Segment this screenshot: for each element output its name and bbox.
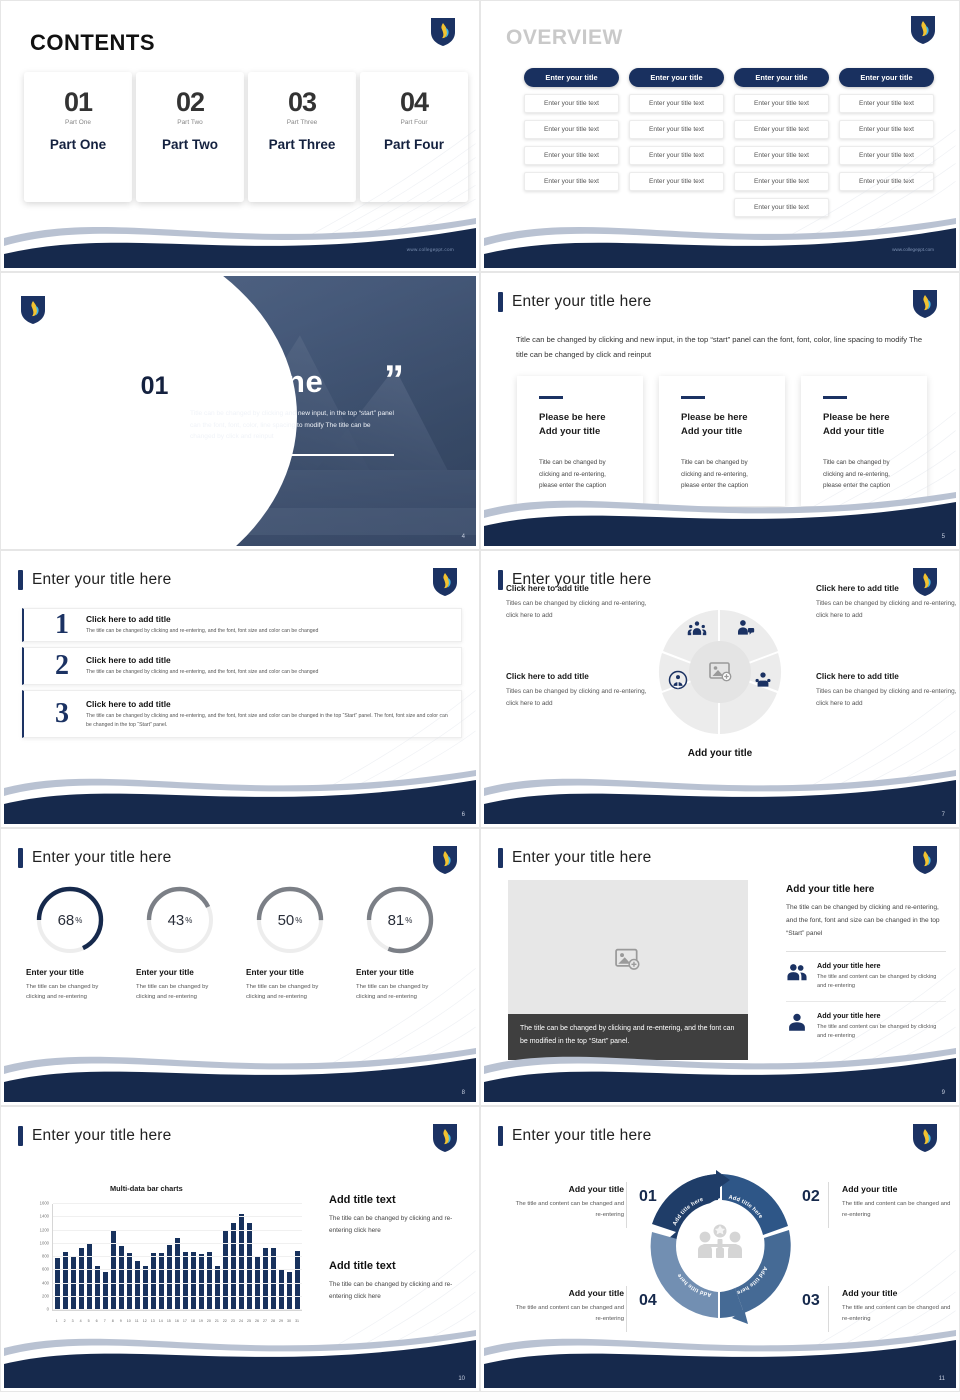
slide-three-cards[interactable]: Enter your title here Title can be chang…	[480, 272, 960, 550]
list-item[interactable]: Add your title here The title and conten…	[786, 952, 946, 1002]
chart-bar	[215, 1266, 220, 1310]
chart-bars	[53, 1204, 302, 1310]
divider-rule	[190, 454, 394, 456]
chart-x-axis-labels: 1234567891011121314151617181920212223242…	[52, 1319, 302, 1323]
contents-cards: 01 Part One Part One 02 Part Two Part Tw…	[24, 72, 468, 202]
section-description: Title can be changed by clicking and new…	[190, 408, 395, 443]
two-people-icon	[786, 961, 808, 983]
node-text-02: Add your title The title and content can…	[842, 1184, 954, 1220]
chart-x-tick-label: 20	[206, 1319, 211, 1323]
person-team-icon	[753, 670, 773, 690]
shield-logo-icon	[430, 16, 456, 47]
chart-x-tick-label: 7	[102, 1319, 107, 1323]
card-heading-line2: Add your title	[539, 426, 600, 437]
column-title-pill[interactable]: Enter your title	[839, 68, 934, 87]
overview-item[interactable]: Enter your title text	[524, 94, 619, 113]
page-number: 11	[939, 1376, 945, 1382]
diagram-text-bottom-left: Click here to add title Titles can be ch…	[506, 672, 658, 710]
slide-bar-chart[interactable]: Enter your title here Multi-data bar cha…	[0, 1106, 480, 1392]
chart-x-tick-label: 17	[182, 1319, 187, 1323]
node-text-04: Add your title The title and content can…	[512, 1288, 624, 1324]
chart-gridline: 1400	[53, 1216, 302, 1217]
page-number: 5	[942, 534, 945, 540]
shield-logo-icon	[432, 1122, 458, 1153]
info-card[interactable]: Please be here Add your title Title can …	[659, 376, 785, 506]
node-heading: Add your title	[512, 1288, 624, 1298]
card-subtitle: Part Four	[400, 119, 427, 126]
item-heading: Add your title here	[817, 1011, 946, 1020]
chart-bar	[295, 1251, 300, 1310]
node-text-03: Add your title The title and content can…	[842, 1288, 954, 1324]
chart-x-tick-label: 11	[134, 1319, 139, 1323]
card-body: Title can be changed by clicking and re-…	[681, 457, 763, 492]
card-title: Part One	[50, 137, 106, 152]
donut-value: 68%	[34, 884, 106, 956]
page-title: Enter your title here	[18, 1126, 171, 1146]
chart-bar	[167, 1245, 172, 1310]
stat-body: The title can be changed by clicking and…	[26, 982, 114, 1003]
overview-item[interactable]: Enter your title text	[629, 120, 724, 139]
chart-y-tick-label: 600	[42, 1267, 49, 1272]
card-body: Title can be changed by clicking and re-…	[823, 457, 905, 492]
chart-x-tick-label: 24	[238, 1319, 243, 1323]
title-text: Enter your title here	[512, 849, 651, 867]
shield-logo-icon	[910, 14, 936, 45]
item-number: 3	[38, 700, 86, 728]
item-body: The title and content can be changed by …	[817, 973, 946, 992]
chart-x-tick-label: 31	[294, 1319, 299, 1323]
donut-chart: 81%	[364, 884, 436, 956]
separator	[828, 1286, 829, 1332]
item-number: 2	[38, 652, 86, 680]
chart-x-tick-label: 2	[62, 1319, 67, 1323]
wave-footer	[4, 754, 476, 824]
overview-column: Enter your title Enter your title text E…	[524, 68, 619, 217]
card-subtitle: Part Three	[287, 119, 318, 126]
overview-column: Enter your title Enter your title text E…	[734, 68, 829, 217]
chart-x-tick-label: 12	[142, 1319, 147, 1323]
slide-overview[interactable]: OVERVIEW Enter your title Enter your tit…	[480, 0, 960, 272]
card-subtitle: Part One	[65, 119, 91, 126]
separator	[626, 1286, 627, 1332]
chart-gridline: 1600	[53, 1203, 302, 1204]
overview-column: Enter your title Enter your title text E…	[629, 68, 724, 217]
contents-card[interactable]: 03 Part Three Part Three	[248, 72, 356, 202]
node-number-02: 02	[802, 1188, 820, 1206]
page-title: CONTENTS	[30, 30, 155, 56]
stat-body: The title can be changed by clicking and…	[246, 982, 334, 1003]
chart-y-tick-label: 400	[42, 1280, 49, 1285]
donut-stat-group: 68% Enter your title The title can be ch…	[26, 884, 444, 1003]
chart-x-tick-label: 22	[222, 1319, 227, 1323]
diagram-text-bottom-right: Click here to add title Titles can be ch…	[816, 672, 956, 710]
item-body: The title can be changed by clicking and…	[86, 668, 451, 676]
title-accent-bar	[498, 292, 503, 312]
footer-url: www.collegeppt.com	[892, 247, 934, 252]
chart-x-tick-label: 5	[86, 1319, 91, 1323]
image-placeholder[interactable]: The title can be changed by clicking and…	[508, 880, 748, 1060]
block-body: Titles can be changed by clicking and re…	[506, 598, 658, 622]
quote-mark-icon: ”	[384, 360, 404, 400]
chart-x-tick-label: 16	[174, 1319, 179, 1323]
slide-deck: CONTENTS 01 Part One Part One 02 Part Tw…	[0, 0, 960, 1400]
page-title: Enter your title here	[498, 292, 651, 312]
person-speech-icon	[735, 618, 755, 638]
people-circle-icon	[668, 670, 688, 690]
title-accent-bar	[498, 1126, 503, 1146]
diagram-text-top-left: Click here to add title Titles can be ch…	[506, 584, 658, 622]
overview-item[interactable]: Enter your title text	[734, 146, 829, 165]
chart-side-text: Add title text The title can be changed …	[329, 1194, 471, 1304]
chart-gridline: 600	[53, 1269, 302, 1270]
chart-bar	[175, 1238, 180, 1310]
chart-y-tick-label: 0	[47, 1307, 49, 1312]
donut-stat[interactable]: 50% Enter your title The title can be ch…	[246, 884, 334, 1003]
overview-item[interactable]: Enter your title text	[839, 120, 934, 139]
chart-bar	[143, 1266, 148, 1310]
card-heading-line2: Add your title	[681, 426, 742, 437]
node-heading: Add your title	[512, 1184, 624, 1194]
chart-x-tick-label: 3	[70, 1319, 75, 1323]
chart-x-tick-label: 29	[278, 1319, 283, 1323]
block-heading: Click here to add title	[506, 584, 658, 593]
contents-card[interactable]: 04 Part Four Part Four	[360, 72, 468, 202]
chart-y-tick-label: 1600	[40, 1201, 49, 1206]
title-text: Enter your title here	[32, 571, 171, 589]
page-title: Enter your title here	[498, 1126, 651, 1146]
overview-item[interactable]: Enter your title text	[629, 172, 724, 191]
chart-bar	[279, 1269, 284, 1310]
slide-numbered-list[interactable]: Enter your title here 1 Click here to ad…	[0, 550, 480, 828]
overview-item[interactable]: Enter your title text	[734, 120, 829, 139]
item-number: 1	[38, 611, 86, 639]
chart-y-tick-label: 1400	[40, 1214, 49, 1219]
overview-item[interactable]: Enter your title text	[629, 94, 724, 113]
chart-bar	[71, 1257, 76, 1310]
column-title-pill[interactable]: Enter your title	[524, 68, 619, 87]
group-people-icon	[687, 619, 707, 639]
image-caption: The title can be changed by clicking and…	[508, 1014, 748, 1060]
page-title: Enter your title here	[498, 848, 651, 868]
chart-x-tick-label: 23	[230, 1319, 235, 1323]
stat-heading: Enter your title	[356, 968, 444, 977]
block-body: The title can be changed by clicking and…	[329, 1279, 471, 1304]
overview-item[interactable]: Enter your title text	[524, 146, 619, 165]
chart-x-tick-label: 28	[270, 1319, 275, 1323]
chart-bar	[103, 1272, 108, 1310]
card-subtitle: Part Two	[177, 119, 203, 126]
chart-y-tick-label: 800	[42, 1254, 49, 1259]
page-number: 8	[462, 1090, 465, 1096]
shield-logo-icon	[20, 294, 46, 325]
slide-contents[interactable]: CONTENTS 01 Part One Part One 02 Part Tw…	[0, 0, 480, 272]
block-heading: Click here to add title	[506, 672, 658, 681]
panel-body: The title can be changed by clicking and…	[786, 902, 946, 941]
chart-x-tick-label: 14	[158, 1319, 163, 1323]
title-accent-bar	[18, 570, 23, 590]
card-heading-line1: Please be here	[823, 412, 890, 423]
diagram-caption: Add your title	[688, 748, 752, 759]
block-heading: Click here to add title	[816, 672, 956, 681]
chart-bar	[55, 1258, 60, 1310]
donut-stat[interactable]: 81% Enter your title The title can be ch…	[356, 884, 444, 1003]
chart-y-tick-label: 1000	[40, 1240, 49, 1245]
chart-y-tick-label: 1200	[40, 1227, 49, 1232]
info-card[interactable]: Please be here Add your title Title can …	[801, 376, 927, 506]
block-heading: Add title text	[329, 1260, 471, 1272]
column-title-pill[interactable]: Enter your title	[734, 68, 829, 87]
item-heading: Click here to add title	[86, 699, 451, 709]
list-item[interactable]: Add your title here The title and conten…	[786, 1002, 946, 1051]
column-title-pill[interactable]: Enter your title	[629, 68, 724, 87]
overview-item[interactable]: Enter your title text	[734, 198, 829, 217]
page-title: Enter your title here	[18, 848, 171, 868]
stat-heading: Enter your title	[246, 968, 334, 977]
title-accent-bar	[498, 848, 503, 868]
overview-item[interactable]: Enter your title text	[839, 172, 934, 191]
slide-section-part-one[interactable]: 01 Part One ” Title can be changed by cl…	[0, 272, 480, 550]
panel-heading: Add your title here	[786, 884, 946, 895]
section-title: Part One	[190, 364, 323, 400]
stat-heading: Enter your title	[26, 968, 114, 977]
donut-stat[interactable]: 68% Enter your title The title can be ch…	[26, 884, 114, 1003]
item-heading: Click here to add title	[86, 655, 451, 665]
slide-image-text[interactable]: Enter your title here The title can be c…	[480, 828, 960, 1106]
node-number-01: 01	[639, 1188, 657, 1206]
overview-item[interactable]: Enter your title text	[734, 172, 829, 191]
title-accent-bar	[18, 1126, 23, 1146]
overview-item[interactable]: Enter your title text	[839, 146, 934, 165]
footer-url: www.collegeppt.com	[407, 247, 454, 252]
node-text-01: Add your title The title and content can…	[512, 1184, 624, 1220]
chart-x-tick-label: 9	[118, 1319, 123, 1323]
item-heading: Add your title here	[817, 961, 946, 970]
node-number-04: 04	[639, 1292, 657, 1310]
card-heading-line1: Please be here	[681, 412, 748, 423]
block-heading: Add title text	[329, 1194, 471, 1206]
list-item[interactable]: 1 Click here to add title The title can …	[22, 608, 462, 642]
shield-logo-icon	[432, 844, 458, 875]
shield-logo-icon	[912, 844, 938, 875]
stat-heading: Enter your title	[136, 968, 224, 977]
block-body: The title can be changed by clicking and…	[329, 1213, 471, 1238]
chart-bar	[231, 1223, 236, 1310]
chart-bar	[183, 1252, 188, 1310]
card-group: Please be here Add your title Title can …	[517, 376, 927, 506]
donut-chart: 43%	[144, 884, 216, 956]
overview-item[interactable]: Enter your title text	[524, 120, 619, 139]
title-text: Enter your title here	[512, 1127, 651, 1145]
overview-column: Enter your title Enter your title text E…	[839, 68, 934, 217]
block-heading: Click here to add title	[816, 584, 956, 593]
title-text: Enter your title here	[32, 1127, 171, 1145]
card-title: Part Four	[384, 137, 444, 152]
info-card[interactable]: Please be here Add your title Title can …	[517, 376, 643, 506]
chart-x-tick-label: 25	[246, 1319, 251, 1323]
page-number: 9	[942, 1090, 945, 1096]
chart-x-tick-label: 27	[262, 1319, 267, 1323]
node-body: The title and content can be changed and…	[512, 1303, 624, 1324]
person-icon	[786, 1011, 808, 1033]
node-heading: Add your title	[842, 1288, 954, 1298]
page-number: 6	[462, 812, 465, 818]
stat-body: The title can be changed by clicking and…	[356, 982, 444, 1003]
card-title: Part Three	[269, 137, 336, 152]
contents-card[interactable]: 01 Part One Part One	[24, 72, 132, 202]
block-body: Titles can be changed by clicking and re…	[506, 686, 658, 710]
chart-x-tick-label: 10	[126, 1319, 131, 1323]
chart-x-tick-label: 15	[166, 1319, 171, 1323]
chart-bar	[87, 1243, 92, 1310]
title-text: Enter your title here	[512, 293, 651, 311]
image-placeholder-icon	[615, 947, 641, 978]
page-number: 4	[462, 534, 465, 540]
slide-cycle-diagram[interactable]: Enter your title here	[480, 1106, 960, 1392]
chart-bar	[63, 1252, 68, 1310]
page-number: 7	[942, 812, 945, 818]
page-title: OVERVIEW	[506, 26, 623, 50]
chart-x-tick-label: 6	[94, 1319, 99, 1323]
title-text: Enter your title here	[32, 849, 171, 867]
contents-card[interactable]: 02 Part Two Part Two	[136, 72, 244, 202]
chart-plot-area: 16001400120010008006004002000	[52, 1204, 302, 1311]
title-accent-bar	[498, 570, 503, 590]
card-number: 04	[400, 89, 428, 116]
card-number: 03	[288, 89, 316, 116]
chart-x-tick-label: 4	[78, 1319, 83, 1323]
chart-title: Multi-data bar charts	[110, 1184, 183, 1193]
chart-x-tick-label: 30	[286, 1319, 291, 1323]
overview-item[interactable]: Enter your title text	[734, 94, 829, 113]
node-number-03: 03	[802, 1292, 820, 1310]
separator	[626, 1182, 627, 1228]
chart-bar	[95, 1266, 100, 1310]
card-number: 01	[64, 89, 92, 116]
list-item[interactable]: 3 Click here to add title The title can …	[22, 690, 462, 738]
stat-body: The title can be changed by clicking and…	[136, 982, 224, 1003]
chart-y-tick-label: 200	[42, 1293, 49, 1298]
donut-value: 43%	[144, 884, 216, 956]
chart-gridline: 0	[53, 1309, 302, 1310]
donut-value: 81%	[364, 884, 436, 956]
shield-logo-icon	[432, 566, 458, 597]
chart-gridline: 200	[53, 1296, 302, 1297]
card-dash	[823, 396, 847, 399]
chart-gridline: 1000	[53, 1243, 302, 1244]
card-number: 02	[176, 89, 204, 116]
chart-gridline: 800	[53, 1256, 302, 1257]
card-body: Title can be changed by clicking and re-…	[539, 457, 621, 492]
item-body: The title can be changed by clicking and…	[86, 627, 451, 635]
card-heading-line2: Add your title	[823, 426, 884, 437]
bar-chart: Multi-data bar charts 160014001200100080…	[18, 1160, 308, 1335]
wave-footer	[4, 1032, 476, 1102]
right-text-panel: Add your title here The title can be cha…	[786, 884, 946, 1051]
donut-chart: 50%	[254, 884, 326, 956]
overview-grid: Enter your title Enter your title text E…	[524, 68, 934, 217]
overview-item[interactable]: Enter your title text	[524, 172, 619, 191]
block-body: Titles can be changed by clicking and re…	[816, 686, 956, 710]
chart-bar	[247, 1223, 252, 1310]
wave-footer	[4, 198, 476, 268]
page-number: 10	[458, 1376, 465, 1382]
chart-gridline: 1200	[53, 1230, 302, 1231]
chart-bar	[255, 1257, 260, 1310]
item-heading: Click here to add title	[86, 614, 451, 624]
card-dash	[539, 396, 563, 399]
donut-stat[interactable]: 43% Enter your title The title can be ch…	[136, 884, 224, 1003]
shield-logo-icon	[912, 1122, 938, 1153]
block-body: Titles can be changed by clicking and re…	[816, 598, 956, 622]
node-body: The title and content can be changed and…	[842, 1199, 954, 1220]
donut-value: 50%	[254, 884, 326, 956]
list-item[interactable]: 2 Click here to add title The title can …	[22, 647, 462, 685]
chart-x-tick-label: 8	[110, 1319, 115, 1323]
chart-bar	[207, 1252, 212, 1310]
shield-logo-icon	[912, 288, 938, 319]
chart-bar	[263, 1248, 268, 1310]
lead-paragraph: Title can be changed by clicking and new…	[516, 332, 926, 362]
node-body: The title and content can be changed and…	[512, 1199, 624, 1220]
slide-donut-stats[interactable]: Enter your title here 68% Enter your tit…	[0, 828, 480, 1106]
numbered-rows: 1 Click here to add title The title can …	[22, 608, 462, 743]
chart-bar	[287, 1272, 292, 1310]
donut-chart: 68%	[34, 884, 106, 956]
overview-item[interactable]: Enter your title text	[629, 146, 724, 165]
page-title: Enter your title here	[18, 570, 171, 590]
chart-x-tick-label: 19	[198, 1319, 203, 1323]
wave-footer	[484, 1318, 956, 1388]
diagram-text-top-right: Click here to add title Titles can be ch…	[816, 584, 956, 622]
chart-x-tick-label: 18	[190, 1319, 195, 1323]
card-dash	[681, 396, 705, 399]
cycle-graphic: Add title here Add title here Add title …	[640, 1166, 800, 1326]
title-accent-bar	[18, 848, 23, 868]
separator	[828, 1182, 829, 1228]
chart-bar	[271, 1248, 276, 1310]
chart-x-tick-label: 21	[214, 1319, 219, 1323]
chart-x-tick-label: 13	[150, 1319, 155, 1323]
slide-circle-diagram[interactable]: Enter your title here	[480, 550, 960, 828]
node-body: The title and content can be changed and…	[842, 1303, 954, 1324]
overview-item[interactable]: Enter your title text	[839, 94, 934, 113]
node-heading: Add your title	[842, 1184, 954, 1194]
chart-bar	[191, 1252, 196, 1310]
chart-x-tick-label: 1	[54, 1319, 59, 1323]
card-title: Part Two	[162, 137, 218, 152]
chart-bar	[79, 1248, 84, 1310]
chart-gridline: 400	[53, 1283, 302, 1284]
section-number-badge: 01	[132, 362, 177, 410]
chart-x-tick-label: 26	[254, 1319, 259, 1323]
card-heading-line1: Please be here	[539, 412, 606, 423]
item-body: The title and content can be changed by …	[817, 1023, 946, 1042]
item-body: The title can be changed by clicking and…	[86, 712, 451, 729]
